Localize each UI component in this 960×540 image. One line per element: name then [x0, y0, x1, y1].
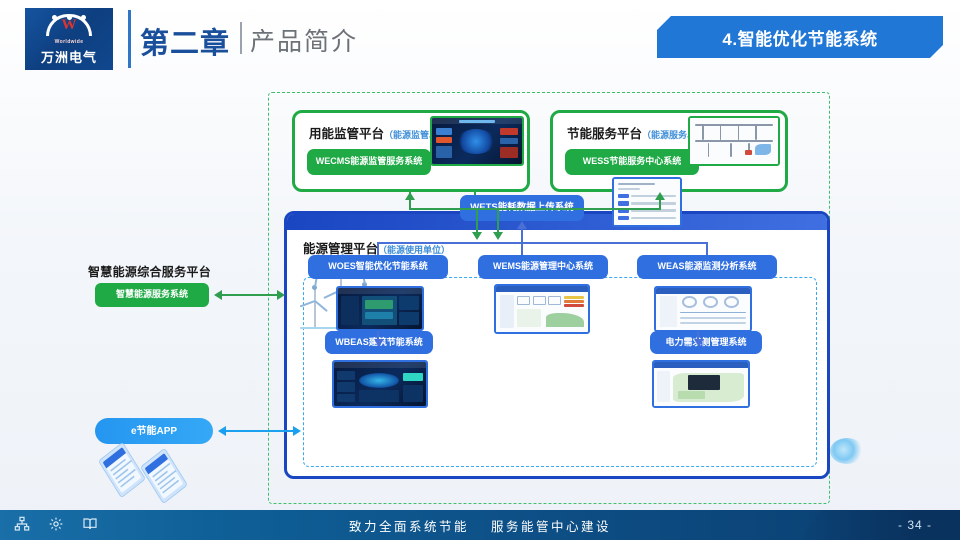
company-logo: W Worldwide 万洲电气 [25, 8, 113, 70]
page-header: W Worldwide 万洲电气 第二章 产品简介 4.智能优化节能系统 [0, 0, 960, 82]
connector-weas-horizontal [521, 242, 708, 244]
connector-gp2-tail [476, 208, 478, 234]
logo-brand-cn: 万洲电气 [41, 47, 97, 66]
arrow-down-to-wets-right [493, 232, 503, 240]
thumbnail-wbeas-dashboard[interactable] [332, 360, 428, 408]
connector-gp1-tail [497, 208, 499, 234]
thumbnail-wems-dashboard[interactable] [494, 284, 590, 334]
section-title-badge: 4.智能优化节能系统 [657, 16, 943, 58]
arrow-derive-power [694, 339, 704, 347]
thumbnail-power-demand-map[interactable] [652, 360, 750, 408]
button-wems[interactable]: WEMS能源管理中心系统 [478, 255, 608, 279]
logo-letter: W [58, 17, 80, 33]
arrow-left-platform [214, 290, 222, 300]
decorative-glow [830, 438, 864, 464]
button-wess[interactable]: WESS节能服务中心系统 [565, 149, 699, 175]
arrow-down-to-wets-left [472, 232, 482, 240]
phone-mockup [140, 448, 188, 504]
diagram-canvas: 用能监管平台（能源监管单位） WECMS能源监管服务系统 节能服务平台（能源服务… [0, 82, 960, 510]
arrow-derive-wbeas [374, 339, 384, 347]
panel-title: 能源管理平台（能源使用单位） [303, 238, 450, 257]
phone-mockup [98, 442, 146, 498]
thumbnail-weas-dashboard[interactable] [654, 286, 752, 332]
page-footer: 致力全面系统节能 服务能管中心建设 - 34 - [0, 510, 960, 540]
arrow-up-to-gp2 [655, 192, 665, 200]
logo-brand-en: Worldwide [55, 39, 84, 45]
mobile-phones-illustration [98, 448, 214, 492]
arrow-right-app [293, 426, 301, 436]
connector-weas-up [706, 242, 708, 255]
chapter-separator [240, 22, 242, 54]
connector-derive-power [697, 331, 699, 340]
thumbnail-document-list[interactable] [612, 177, 682, 227]
arrow-left-app [218, 426, 226, 436]
connector-app [225, 430, 295, 432]
connector-gp1-horizontal [409, 208, 499, 210]
connector-gp2-horizontal [498, 208, 660, 210]
footer-slogan-left: 致力全面系统节能 [349, 516, 469, 535]
connector-left-platform [221, 294, 279, 296]
connector-up-gp1 [409, 200, 411, 210]
arrow-right-platform [277, 290, 285, 300]
chapter-title: 第二章 [140, 20, 230, 62]
left-platform-heading: 智慧能源综合服务平台 [88, 263, 211, 280]
footer-slogan-right: 服务能管中心建设 [491, 516, 611, 535]
arrow-up-to-gp1 [405, 192, 415, 200]
thumbnail-woes-dashboard[interactable] [336, 286, 424, 331]
button-wecms[interactable]: WECMS能源监管服务系统 [307, 149, 431, 175]
button-e-energy-app[interactable]: e节能APP [95, 418, 213, 444]
button-woes[interactable]: WOES智能优化节能系统 [308, 255, 448, 279]
chapter-subtitle: 产品简介 [250, 22, 358, 58]
button-weas[interactable]: WEAS能源监测分析系统 [637, 255, 777, 279]
logo-mark-icon: W [46, 12, 92, 38]
page-number: - 34 - [898, 510, 932, 540]
panel-title-text: 能源管理平台 [303, 242, 378, 256]
panel-subtitle-text: （能源使用单位） [378, 245, 450, 255]
connector-segment [474, 192, 476, 195]
arrow-up-wems [517, 221, 527, 229]
button-smart-energy-service[interactable]: 智慧能源服务系统 [95, 283, 209, 307]
thumbnail-wess-schematic[interactable] [688, 116, 780, 166]
panel-title-text: 节能服务平台 [567, 127, 642, 141]
panel-title-text: 用能监管平台 [309, 127, 384, 141]
button-power-demand[interactable]: 电力需求侧管理系统 [650, 331, 762, 354]
footer-slogan: 致力全面系统节能 服务能管中心建设 [0, 510, 960, 540]
header-divider [128, 10, 131, 68]
connector-derive-wbeas [377, 331, 379, 340]
thumbnail-wecms-dashboard[interactable] [430, 116, 524, 166]
